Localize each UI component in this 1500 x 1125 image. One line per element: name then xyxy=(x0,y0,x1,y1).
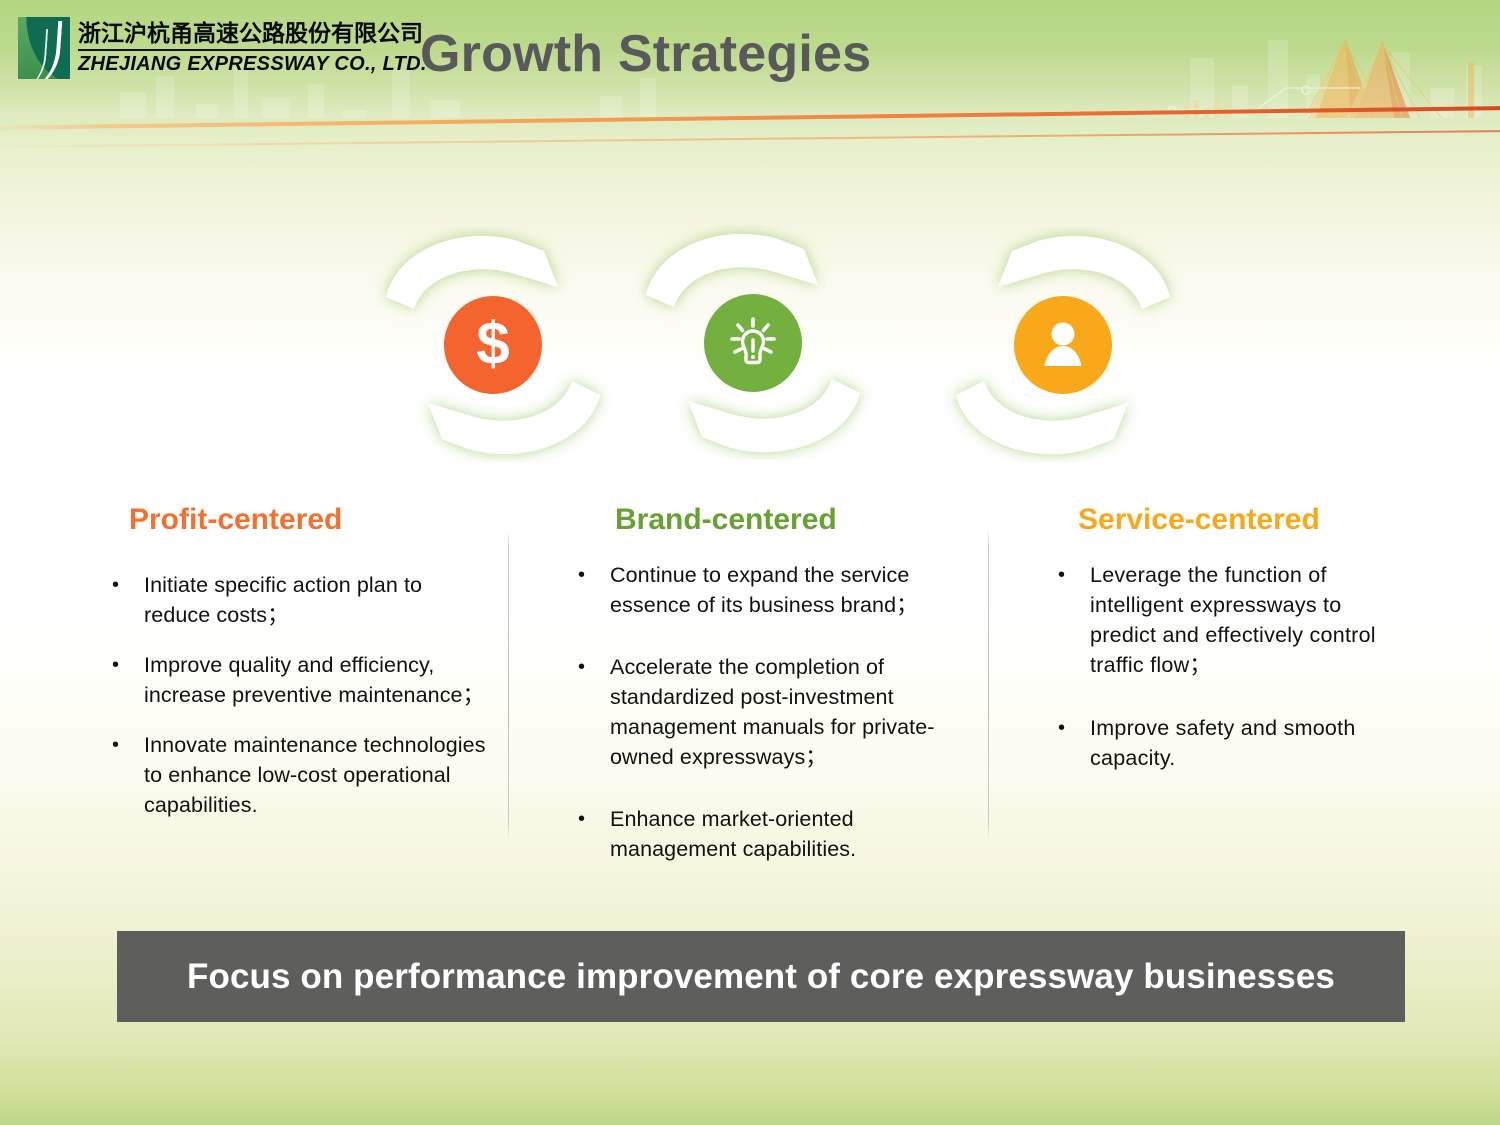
bullet-marker-icon: • xyxy=(1058,560,1090,590)
page-title: Growth Strategies xyxy=(420,24,871,84)
bullet-list-profit: • Initiate specific action plan to reduc… xyxy=(112,570,492,840)
list-item: • Improve quality and efficiency, increa… xyxy=(112,650,492,710)
lightbulb-icon xyxy=(724,314,782,372)
list-item-text: Improve quality and efficiency, increase… xyxy=(144,650,492,710)
strategy-icon-row: $ xyxy=(0,225,1500,475)
bullet-list-brand: • Continue to expand the service essence… xyxy=(578,560,958,896)
list-item-text: Accelerate the completion of standardize… xyxy=(610,652,958,772)
column-heading-service: Service-centered xyxy=(1078,503,1320,537)
list-item: • Enhance market-oriented management cap… xyxy=(578,804,958,864)
summary-banner-text: Focus on performance improvement of core… xyxy=(187,957,1335,997)
list-item: • Improve safety and smooth capacity. xyxy=(1058,713,1398,773)
column-heading-profit: Profit-centered xyxy=(129,503,342,537)
list-item: • Initiate specific action plan to reduc… xyxy=(112,570,492,630)
bullet-marker-icon: • xyxy=(578,560,610,590)
list-item-text: Enhance market-oriented management capab… xyxy=(610,804,958,864)
list-item: • Continue to expand the service essence… xyxy=(578,560,958,620)
cycle-graphic-brand xyxy=(628,225,878,460)
column-divider xyxy=(508,530,509,840)
column-heading-brand: Brand-centered xyxy=(615,503,837,537)
list-item: • Innovate maintenance technologies to e… xyxy=(112,730,492,820)
brand-icon-circle xyxy=(704,294,802,392)
service-icon-circle xyxy=(1014,296,1112,394)
company-name-english: ZHEJIANG EXPRESSWAY CO., LTD. xyxy=(78,53,378,76)
cycle-graphic-service xyxy=(938,227,1188,462)
company-name-chinese: 浙江沪杭甬高速公路股份有限公司 xyxy=(78,20,378,48)
company-logo-text: 浙江沪杭甬高速公路股份有限公司 ZHEJIANG EXPRESSWAY CO.,… xyxy=(78,20,378,76)
logo-underline xyxy=(78,49,361,51)
slide-canvas: 浙江沪杭甬高速公路股份有限公司 ZHEJIANG EXPRESSWAY CO.,… xyxy=(0,0,1500,1125)
bullet-list-service: • Leverage the function of intelligent e… xyxy=(1058,560,1398,806)
bullet-marker-icon: • xyxy=(578,652,610,682)
dollar-icon: $ xyxy=(476,314,509,374)
company-logo-mark xyxy=(18,17,70,79)
bullet-marker-icon: • xyxy=(1058,713,1090,743)
list-item-text: Innovate maintenance technologies to enh… xyxy=(144,730,492,820)
person-icon xyxy=(1037,318,1089,372)
profit-icon-circle: $ xyxy=(444,296,542,394)
list-item-text: Leverage the function of intelligent exp… xyxy=(1090,560,1398,680)
list-item: • Accelerate the completion of standardi… xyxy=(578,652,958,772)
column-divider xyxy=(988,528,989,840)
bullet-marker-icon: • xyxy=(112,570,144,600)
bullet-marker-icon: • xyxy=(578,804,610,834)
list-item-text: Improve safety and smooth capacity. xyxy=(1090,713,1398,773)
header-accent-rule-secondary xyxy=(0,130,1500,148)
summary-banner: Focus on performance improvement of core… xyxy=(117,931,1405,1022)
bullet-marker-icon: • xyxy=(112,730,144,760)
bullet-marker-icon: • xyxy=(112,650,144,680)
list-item-text: Continue to expand the service essence o… xyxy=(610,560,958,620)
list-item-text: Initiate specific action plan to reduce … xyxy=(144,570,492,630)
cycle-graphic-profit: $ xyxy=(368,227,618,462)
list-item: • Leverage the function of intelligent e… xyxy=(1058,560,1398,680)
